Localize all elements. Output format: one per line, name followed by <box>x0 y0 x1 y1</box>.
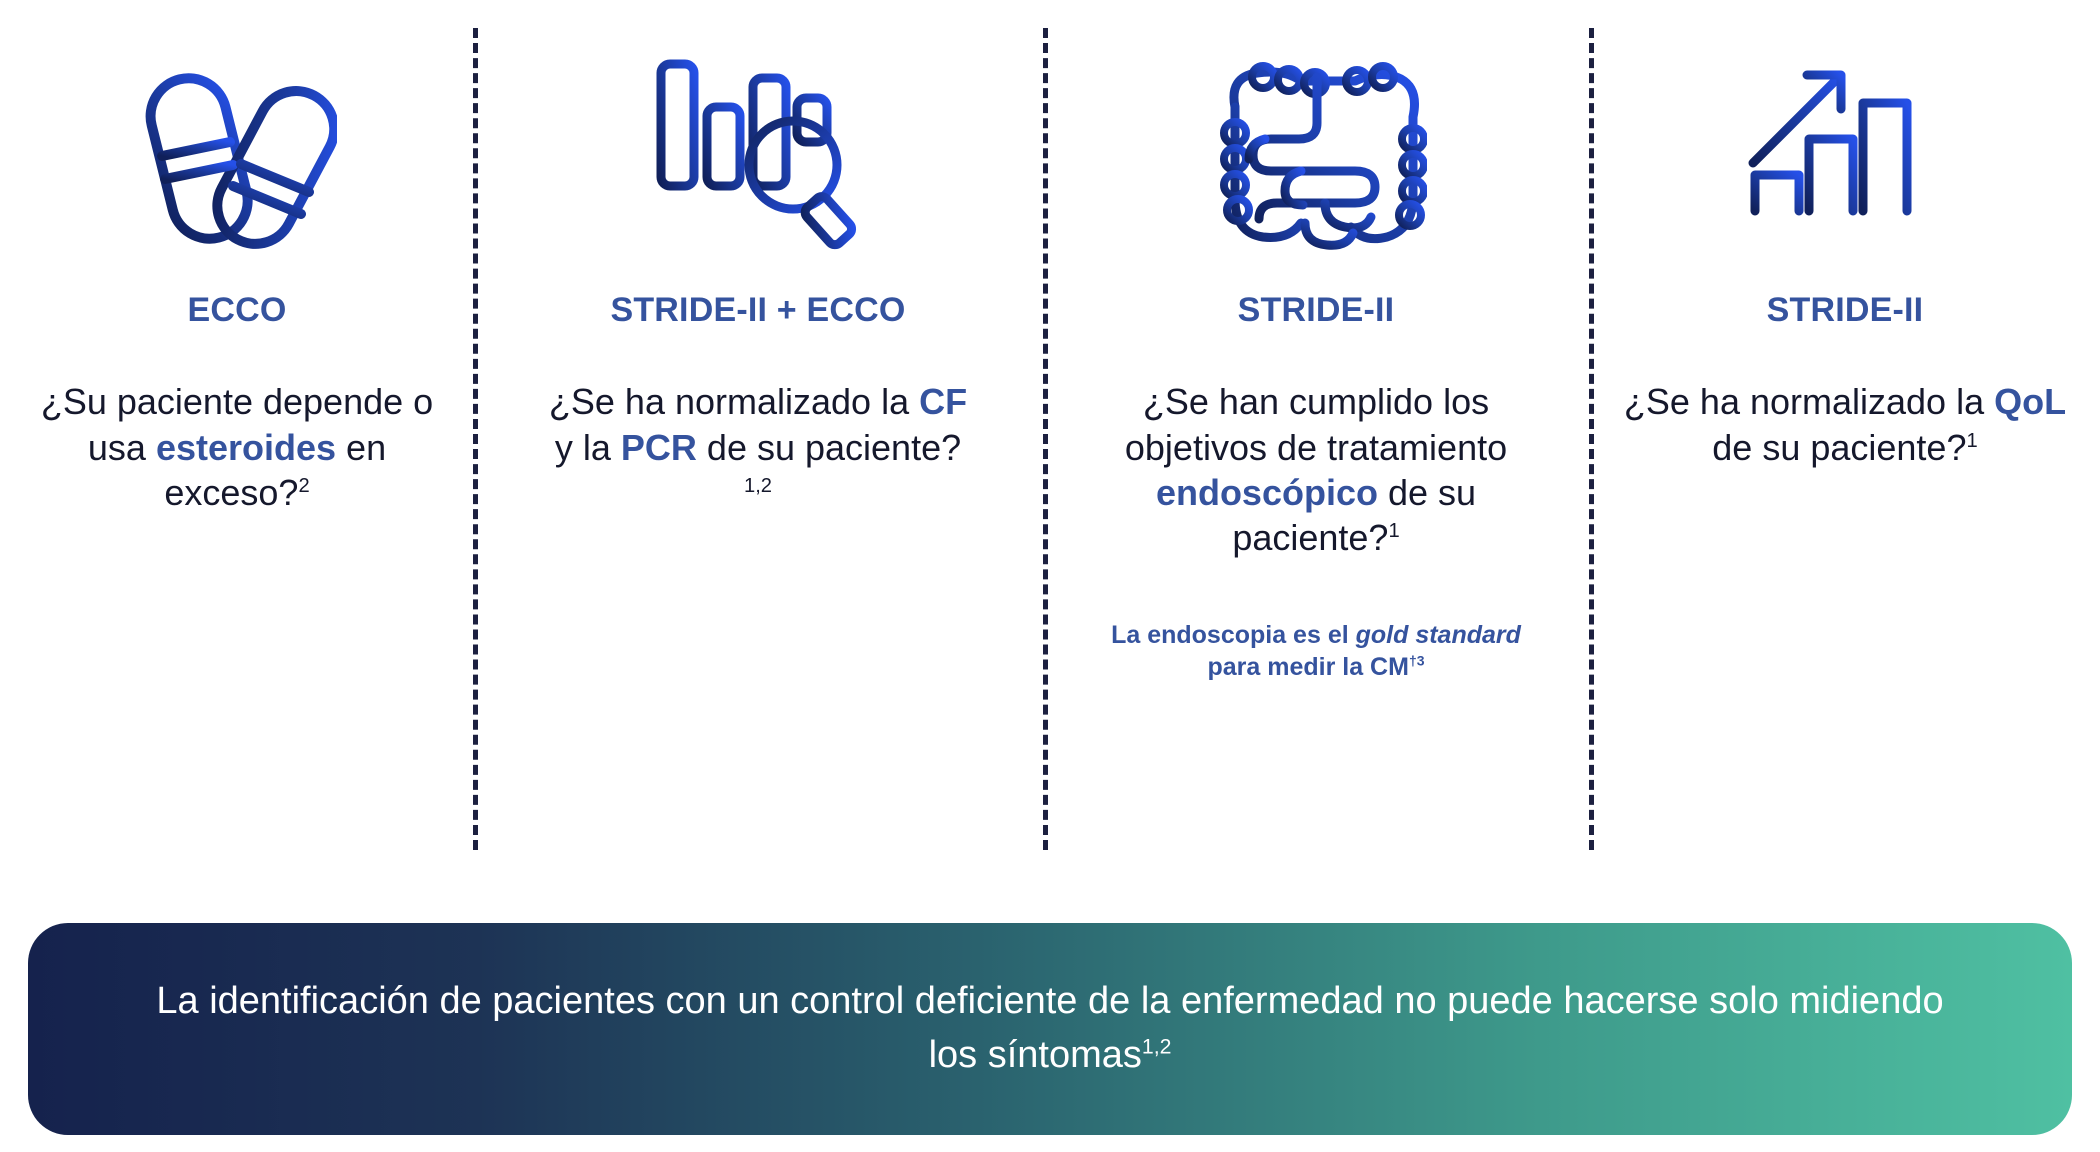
column-stride-ecco-biomarkers: STRIDE-II + ECCO ¿Se ha normalizado la C… <box>474 0 1042 880</box>
summary-banner-text: La identificación de pacientes con un co… <box>148 975 1952 1083</box>
column-question: ¿Se ha normalizado la CF y la PCR de su … <box>543 379 973 515</box>
column-note: La endoscopia es el gold standard para m… <box>1111 619 1521 684</box>
summary-banner: La identificación de pacientes con un co… <box>28 923 2072 1135</box>
columns-row: ECCO ¿Su paciente depende o usa esteroid… <box>0 0 2100 880</box>
column-stride-endoscopy: STRIDE-II ¿Se han cumplido los objetivos… <box>1042 0 1590 880</box>
column-divider <box>1589 28 1594 850</box>
column-stride-qol: STRIDE-II ¿Se ha normalizado la QoL de s… <box>1590 0 2100 880</box>
column-heading: ECCO <box>187 292 286 329</box>
column-divider <box>473 28 478 850</box>
pills-capsules-icon <box>137 34 337 270</box>
growth-bar-chart-arrow-icon <box>1747 34 1943 270</box>
column-question: ¿Se han cumplido los objetivos de tratam… <box>1106 379 1526 560</box>
column-question: ¿Se ha normalizado la QoL de su paciente… <box>1620 379 2070 470</box>
column-heading: STRIDE-II <box>1238 292 1395 329</box>
column-heading: STRIDE-II <box>1767 292 1924 329</box>
column-question: ¿Su paciente depende o usa esteroides en… <box>30 379 444 515</box>
intestine-icon <box>1205 34 1427 270</box>
column-heading: STRIDE-II + ECCO <box>610 292 905 329</box>
column-ecco-steroids: ECCO ¿Su paciente depende o usa esteroid… <box>0 0 474 880</box>
infographic-root: ECCO ¿Su paciente depende o usa esteroid… <box>0 0 2100 1152</box>
bar-chart-magnifier-icon <box>651 34 865 270</box>
column-divider <box>1043 28 1048 850</box>
